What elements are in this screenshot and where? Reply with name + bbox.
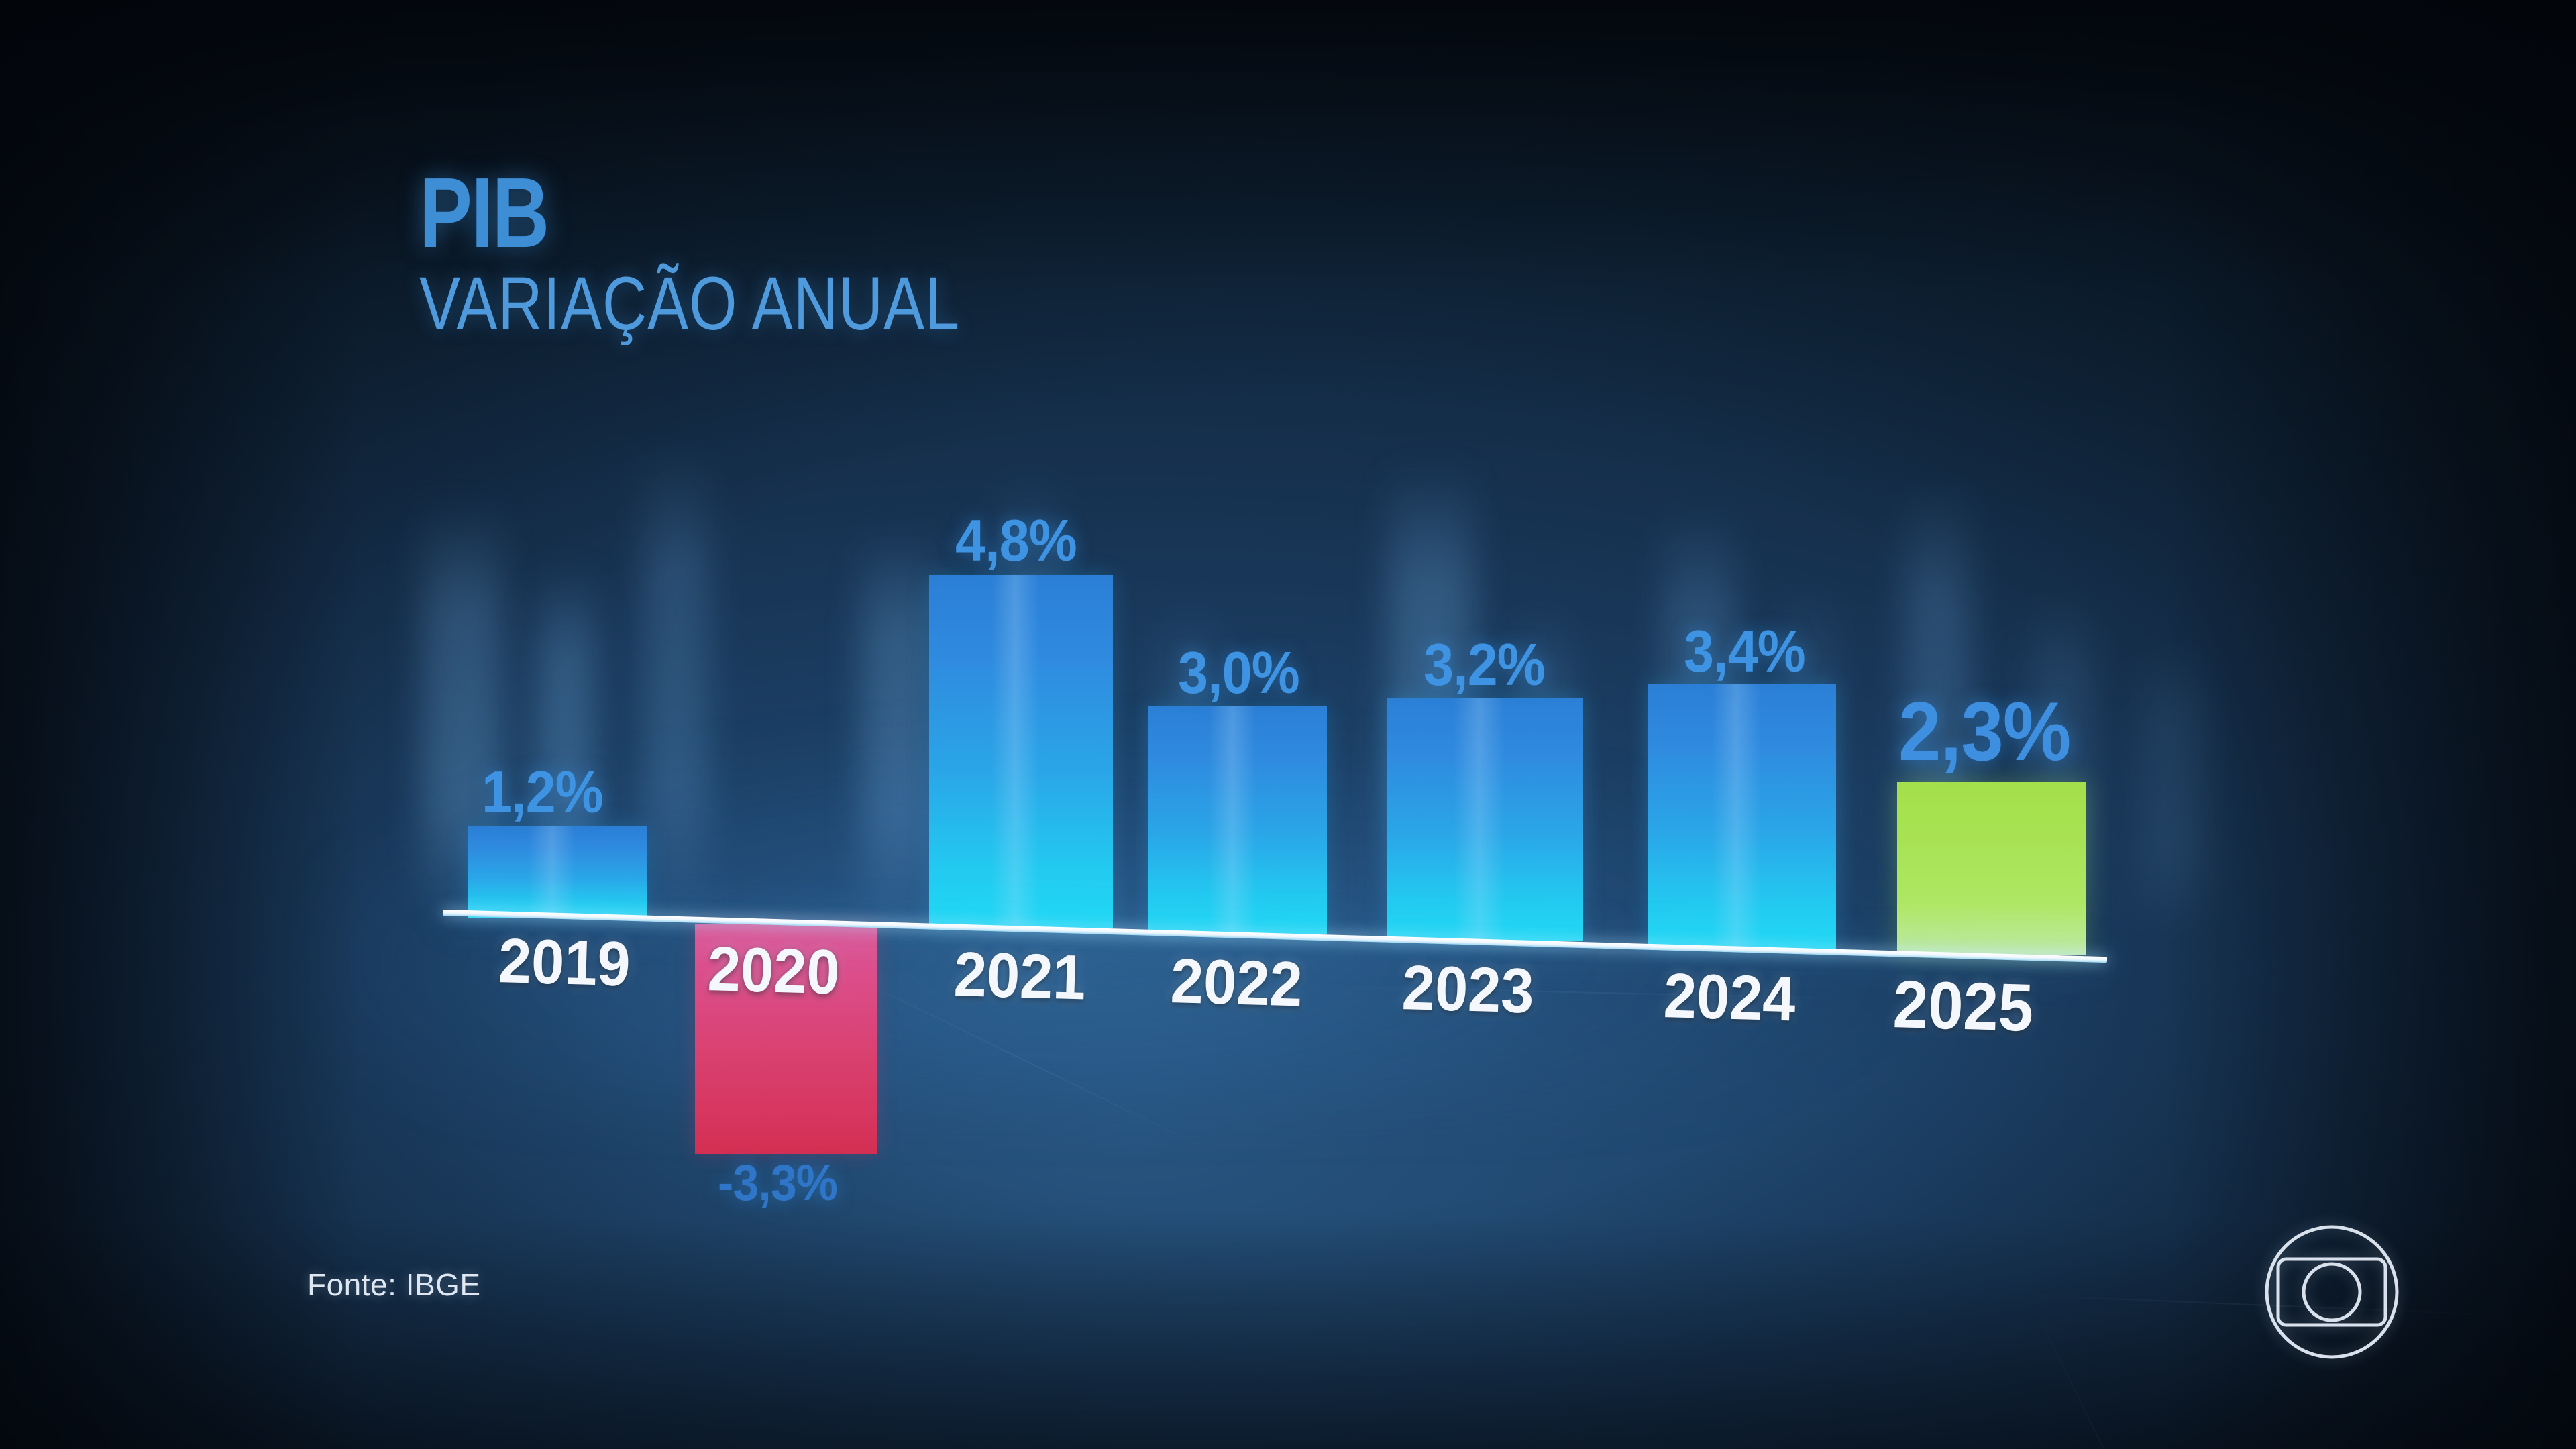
value-label-2020: -3,3%	[718, 1154, 837, 1212]
bar-2025	[1897, 782, 2086, 955]
value-label-2022: 3,0%	[1178, 639, 1299, 707]
value-label-2024: 3,4%	[1684, 617, 1805, 686]
bar-2019	[468, 826, 647, 918]
year-label-2024: 2024	[1662, 959, 1796, 1035]
bar-2023	[1387, 698, 1583, 941]
year-label-2021: 2021	[953, 938, 1087, 1014]
year-label-2020: 2020	[706, 932, 841, 1008]
value-label-2019: 1,2%	[482, 758, 603, 826]
year-label-2023: 2023	[1401, 951, 1535, 1027]
bar-2024	[1648, 684, 1836, 949]
bar-2022	[1148, 706, 1327, 934]
year-label-2025: 2025	[1892, 966, 2034, 1047]
value-label-2021: 4,8%	[955, 506, 1077, 575]
chart-plot-area: 1,2% -3,3% 4,8% 3,0% 3,2% 3,4% 2,3% 2019…	[0, 0, 2576, 1449]
bar-2021	[929, 575, 1113, 928]
year-label-2019: 2019	[497, 924, 631, 1000]
value-label-2023: 3,2%	[1424, 631, 1545, 699]
year-label-2022: 2022	[1169, 945, 1303, 1020]
globo-logo	[2261, 1221, 2403, 1363]
globo-logo-icon	[2261, 1221, 2403, 1363]
value-label-2025: 2,3%	[1898, 684, 2070, 780]
source-label: Fonte: IBGE	[307, 1267, 481, 1303]
pib-chart-graphic: PIB VARIAÇÃO ANUAL 1,2% -3,3% 4,8% 3,0% …	[0, 0, 2576, 1449]
